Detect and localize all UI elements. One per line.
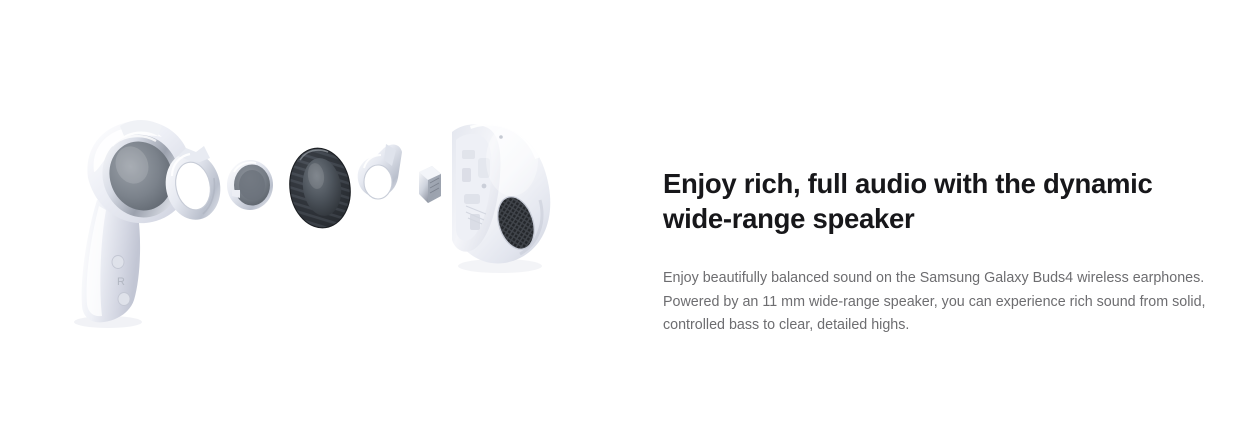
product-illustration: Exploded view of a Samsung Galaxy Buds4 … (0, 0, 640, 439)
earbud-side-marking: R (117, 276, 125, 288)
feature-section: Exploded view of a Samsung Galaxy Buds4 … (0, 0, 1246, 439)
component-outer-shell (452, 123, 550, 273)
feature-copy-block: Enjoy rich, full audio with the dynamic … (663, 166, 1211, 338)
component-magnet-disc (227, 160, 273, 210)
shell-top-marking (499, 135, 503, 139)
feature-description: Enjoy beautifully balanced sound on the … (663, 236, 1211, 338)
component-sensor-chip (419, 166, 441, 203)
magnet-disc-inner (239, 170, 265, 200)
component-hook-bracket (358, 144, 402, 199)
stem-contact-upper (112, 256, 124, 269)
feature-heading: Enjoy rich, full audio with the dynamic … (663, 166, 1203, 236)
component-speaker-driver (285, 144, 356, 232)
component-earbud-body: R (74, 120, 192, 328)
product-exploded-view-image: Exploded view of a Samsung Galaxy Buds4 … (0, 0, 640, 439)
stem-contact-lower (118, 293, 130, 306)
